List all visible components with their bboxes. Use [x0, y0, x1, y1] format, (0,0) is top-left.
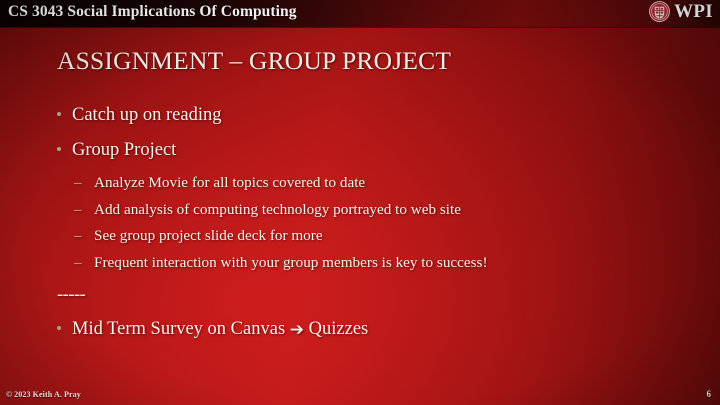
bullet-dot-icon	[57, 147, 61, 151]
bullet-text-prefix: Mid Term Survey on Canvas	[72, 319, 290, 339]
bullet-text: Group Project	[72, 140, 176, 160]
bullet-item: Mid Term Survey on Canvas ➔ Quizzes	[0, 318, 720, 340]
sub-bullet-text: Analyze Movie for all topics covered to …	[94, 174, 365, 191]
sub-bullet-item: – See group project slide deck for more	[0, 227, 720, 245]
sub-bullet-text: See group project slide deck for more	[94, 227, 323, 244]
dash-marker-icon: –	[74, 227, 82, 245]
sub-bullet-item: – Frequent interaction with your group m…	[0, 254, 720, 272]
wpi-brand: WPI	[649, 1, 713, 22]
copyright-notice: © 2023 Keith A. Pray	[6, 390, 81, 399]
bullet-text: Catch up on reading	[72, 105, 222, 125]
slide-title: ASSIGNMENT – GROUP PROJECT	[57, 46, 451, 76]
slide-number: 6	[707, 389, 712, 399]
bullet-dot-icon	[57, 112, 61, 116]
dash-marker-icon: –	[74, 201, 82, 219]
section-separator: -----	[0, 284, 720, 306]
sub-bullet-item: – Analyze Movie for all topics covered t…	[0, 174, 720, 192]
sub-bullet-item: – Add analysis of computing technology p…	[0, 201, 720, 219]
dash-marker-icon: –	[74, 254, 82, 272]
bullet-item: Catch up on reading	[0, 104, 720, 126]
wpi-wordmark: WPI	[674, 1, 713, 22]
sub-bullet-text: Frequent interaction with your group mem…	[94, 254, 488, 271]
wpi-seal-icon	[649, 1, 670, 22]
bullet-item: Group Project	[0, 139, 720, 161]
bullet-text-suffix: Quizzes	[304, 319, 368, 339]
slide-header-bar: CS 3043 Social Implications Of Computing	[0, 0, 720, 27]
right-arrow-icon: ➔	[290, 319, 304, 341]
presentation-slide: CS 3043 Social Implications Of Computing	[0, 0, 720, 405]
sub-bullet-text: Add analysis of computing technology por…	[94, 201, 461, 218]
course-title: CS 3043 Social Implications Of Computing	[8, 3, 297, 21]
slide-body: Catch up on reading Group Project – Anal…	[0, 104, 720, 353]
sub-bullet-group: – Analyze Movie for all topics covered t…	[0, 174, 720, 272]
bullet-dot-icon	[57, 326, 61, 330]
dash-marker-icon: –	[74, 174, 82, 192]
